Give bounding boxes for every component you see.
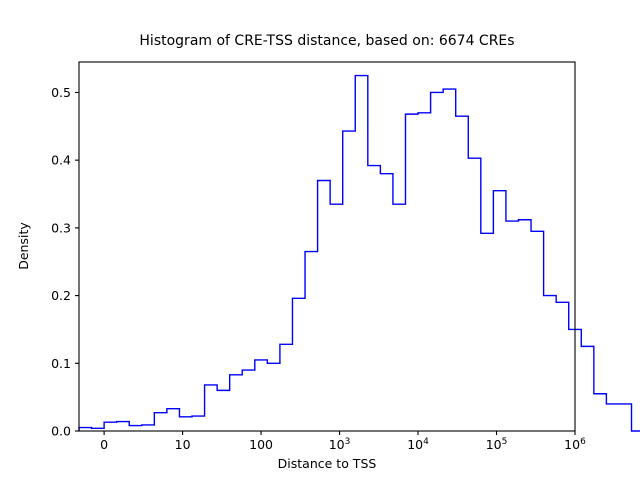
x-tick-label: 10 <box>175 437 191 452</box>
y-axis-title: Density <box>16 222 31 270</box>
histogram-chart: Histogram of CRE-TSS distance, based on:… <box>0 0 640 480</box>
figure-canvas: Histogram of CRE-TSS distance, based on:… <box>0 0 640 480</box>
y-tick-label: 0.3 <box>51 220 71 235</box>
y-tick-label: 0.1 <box>51 356 71 371</box>
y-tick-label: 0.5 <box>51 85 71 100</box>
y-tick-label: 0.0 <box>51 424 71 439</box>
x-tick-label: 0 <box>100 437 108 452</box>
y-tick-label: 0.2 <box>51 288 71 303</box>
chart-title: Histogram of CRE-TSS distance, based on:… <box>139 33 514 49</box>
x-tick-label: 100 <box>249 437 273 452</box>
x-axis-title: Distance to TSS <box>278 456 377 471</box>
y-tick-label: 0.4 <box>51 153 71 168</box>
